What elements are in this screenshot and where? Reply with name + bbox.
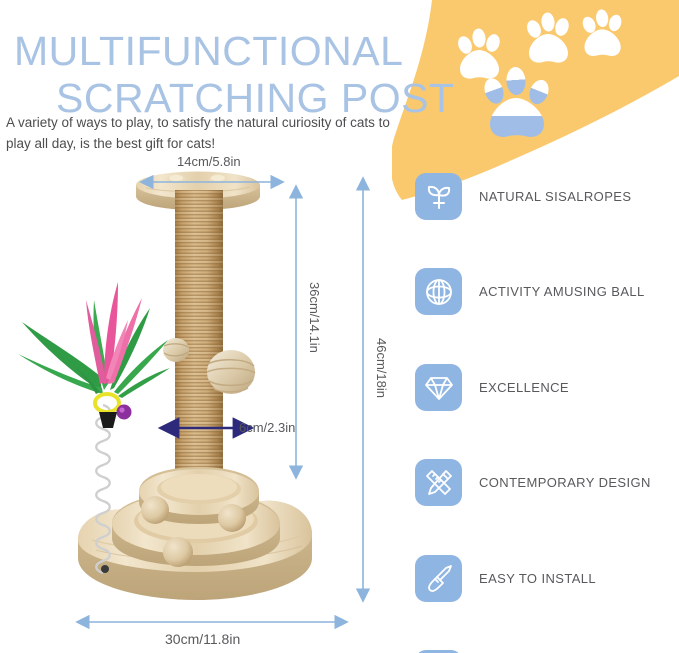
feature-label: NATURAL SISALROPES bbox=[479, 189, 631, 204]
feature-item-easy-to-install[interactable]: EASY TO INSTALL bbox=[415, 543, 679, 613]
dimension-label-base-width: 30cm/11.8in bbox=[165, 631, 240, 647]
feature-list: NATURAL SISALROPES ACTIVITY AMUSING BALL bbox=[415, 161, 679, 653]
pencil-ruler-icon bbox=[415, 459, 462, 506]
feature-label: EXCELLENCE bbox=[479, 380, 569, 395]
feature-label: ACTIVITY AMUSING BALL bbox=[479, 284, 645, 299]
feature-label: EASY TO INSTALL bbox=[479, 571, 596, 586]
feature-item-meeting-multiple-needs[interactable]: MEETING MULTIPLE NEEDS bbox=[415, 639, 679, 653]
screwdriver-icon bbox=[415, 555, 462, 602]
sprout-icon bbox=[415, 173, 462, 220]
dimension-label-post-height: 36cm/14.1in bbox=[307, 282, 322, 353]
dimension-label-total-height: 46cm/18in bbox=[374, 338, 389, 398]
feature-item-contemporary-design[interactable]: CONTEMPORARY DESIGN bbox=[415, 448, 679, 518]
diamond-icon bbox=[415, 364, 462, 411]
infographic-canvas: MULTIFUNCTIONAL SCRATCHING POST MULTIFUN… bbox=[0, 0, 679, 653]
dimension-label-post-diameter: 6cm/2.3in bbox=[239, 420, 295, 435]
globe-ball-icon bbox=[415, 268, 462, 315]
feature-item-activity-amusing-ball[interactable]: ACTIVITY AMUSING BALL bbox=[415, 257, 679, 327]
feature-label: CONTEMPORARY DESIGN bbox=[479, 475, 651, 490]
dimension-label-top-width: 14cm/5.8in bbox=[177, 154, 241, 169]
feature-item-excellence[interactable]: EXCELLENCE bbox=[415, 352, 679, 422]
feature-item-natural-sisalropes[interactable]: NATURAL SISALROPES bbox=[415, 161, 679, 231]
